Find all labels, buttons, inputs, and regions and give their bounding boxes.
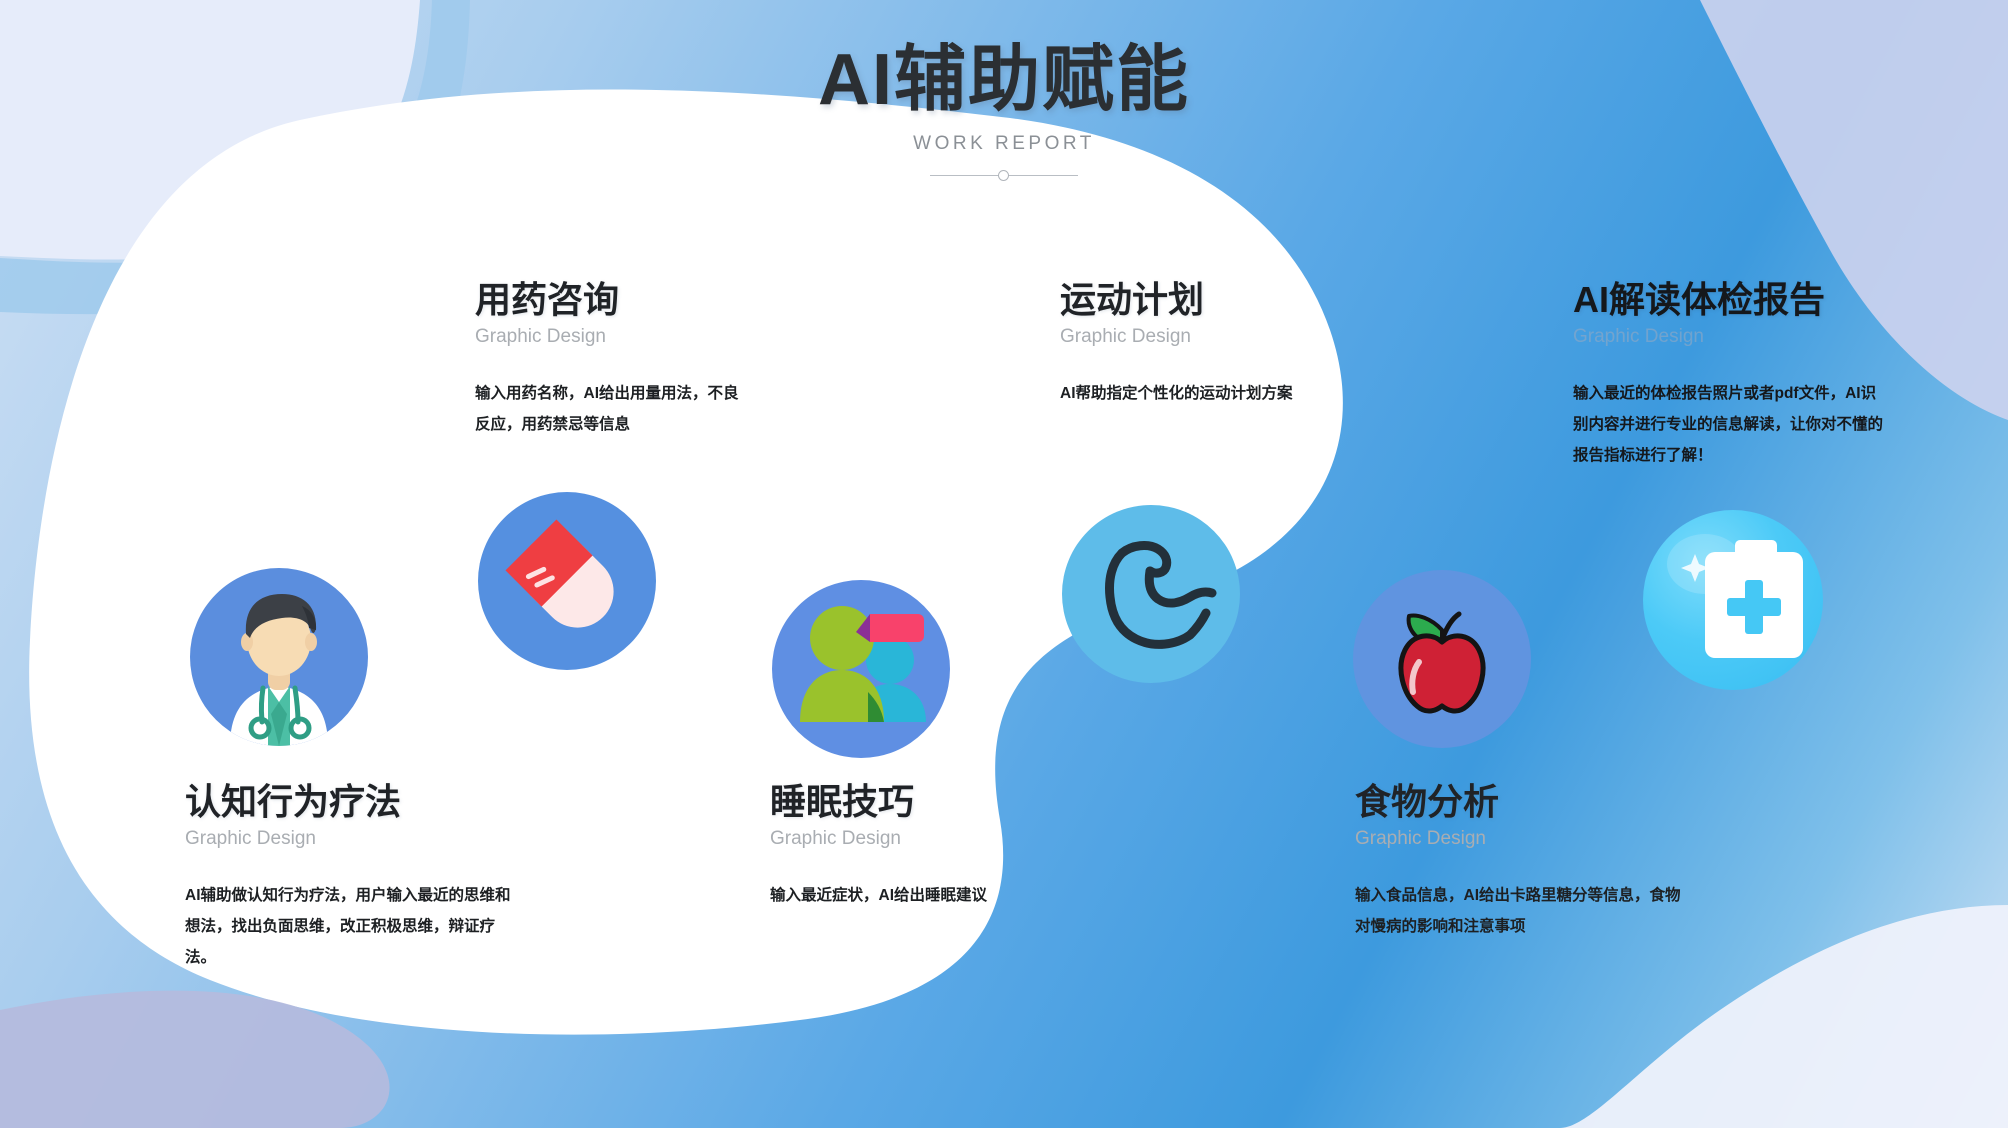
pill-icon[interactable] [478,492,656,670]
doctor-icon-art [230,594,328,746]
clipboard-icon-art [1667,534,1803,658]
feature-block-food[interactable]: 食物分析 Graphic Design 输入食品信息，AI给出卡路里糖分等信息，… [1355,780,1685,942]
title-divider [930,169,1078,183]
feature-block-sport[interactable]: 运动计划 Graphic Design AI帮助指定个性化的运动计划方案 [1060,278,1293,409]
pill-icon-art [505,519,628,642]
feature-desc-sport: AI帮助指定个性化的运动计划方案 [1060,378,1293,409]
feature-eng-label-sleep: Graphic Design [770,828,987,850]
medical-clipboard-icon[interactable] [1643,510,1823,690]
feature-title-food: 食物分析 [1355,780,1685,823]
feature-block-cbt[interactable]: 认知行为疗法 Graphic Design AI辅助做认知行为疗法，用户输入最近… [185,780,515,973]
title-block: AI辅助赋能 WORK REPORT [0,40,2008,183]
feature-desc-sleep: 输入最近症状，AI给出睡眠建议 [770,880,987,911]
slide-canvas: AI辅助赋能 WORK REPORT 用药咨询 Graphic Design 输… [0,0,2008,1128]
feature-title-cbt: 认知行为疗法 [185,780,515,823]
feature-block-report[interactable]: AI解读体检报告 Graphic Design 输入最近的体检报告照片或者pdf… [1573,278,1883,471]
muscle-icon-art [1110,546,1213,645]
two-people-icon-art [800,606,926,722]
doctor-icon[interactable] [190,568,368,746]
muscle-icon[interactable] [1062,505,1240,683]
apple-icon-art [1401,614,1483,711]
feature-eng-label-cbt: Graphic Design [185,828,515,850]
feature-eng-label-report: Graphic Design [1573,326,1883,348]
two-people-talking-icon[interactable] [772,580,950,758]
feature-block-medication[interactable]: 用药咨询 Graphic Design 输入用药名称，AI给出用量用法，不良反应… [475,278,750,440]
page-subtitle: WORK REPORT [0,133,2008,155]
page-title: AI辅助赋能 [0,40,2008,121]
feature-eng-label-food: Graphic Design [1355,828,1685,850]
blob-bottom-left-periwinkle [0,991,390,1128]
feature-desc-medication: 输入用药名称，AI给出用量用法，不良反应，用药禁忌等信息 [475,378,750,440]
apple-icon[interactable] [1353,570,1531,748]
feature-desc-report: 输入最近的体检报告照片或者pdf文件，AI识别内容并进行专业的信息解读，让你对不… [1573,378,1883,471]
feature-title-medication: 用药咨询 [475,278,750,321]
feature-eng-label-medication: Graphic Design [475,326,750,348]
feature-title-sleep: 睡眠技巧 [770,780,987,823]
feature-desc-cbt: AI辅助做认知行为疗法，用户输入最近的思维和想法，找出负面思维，改正积极思维，辩… [185,880,515,973]
feature-title-sport: 运动计划 [1060,278,1293,321]
feature-desc-food: 输入食品信息，AI给出卡路里糖分等信息，食物对慢病的影响和注意事项 [1355,880,1685,942]
feature-block-sleep[interactable]: 睡眠技巧 Graphic Design 输入最近症状，AI给出睡眠建议 [770,780,987,911]
divider-dot [998,170,1009,181]
feature-title-report: AI解读体检报告 [1573,278,1883,321]
feature-eng-label-sport: Graphic Design [1060,326,1293,348]
